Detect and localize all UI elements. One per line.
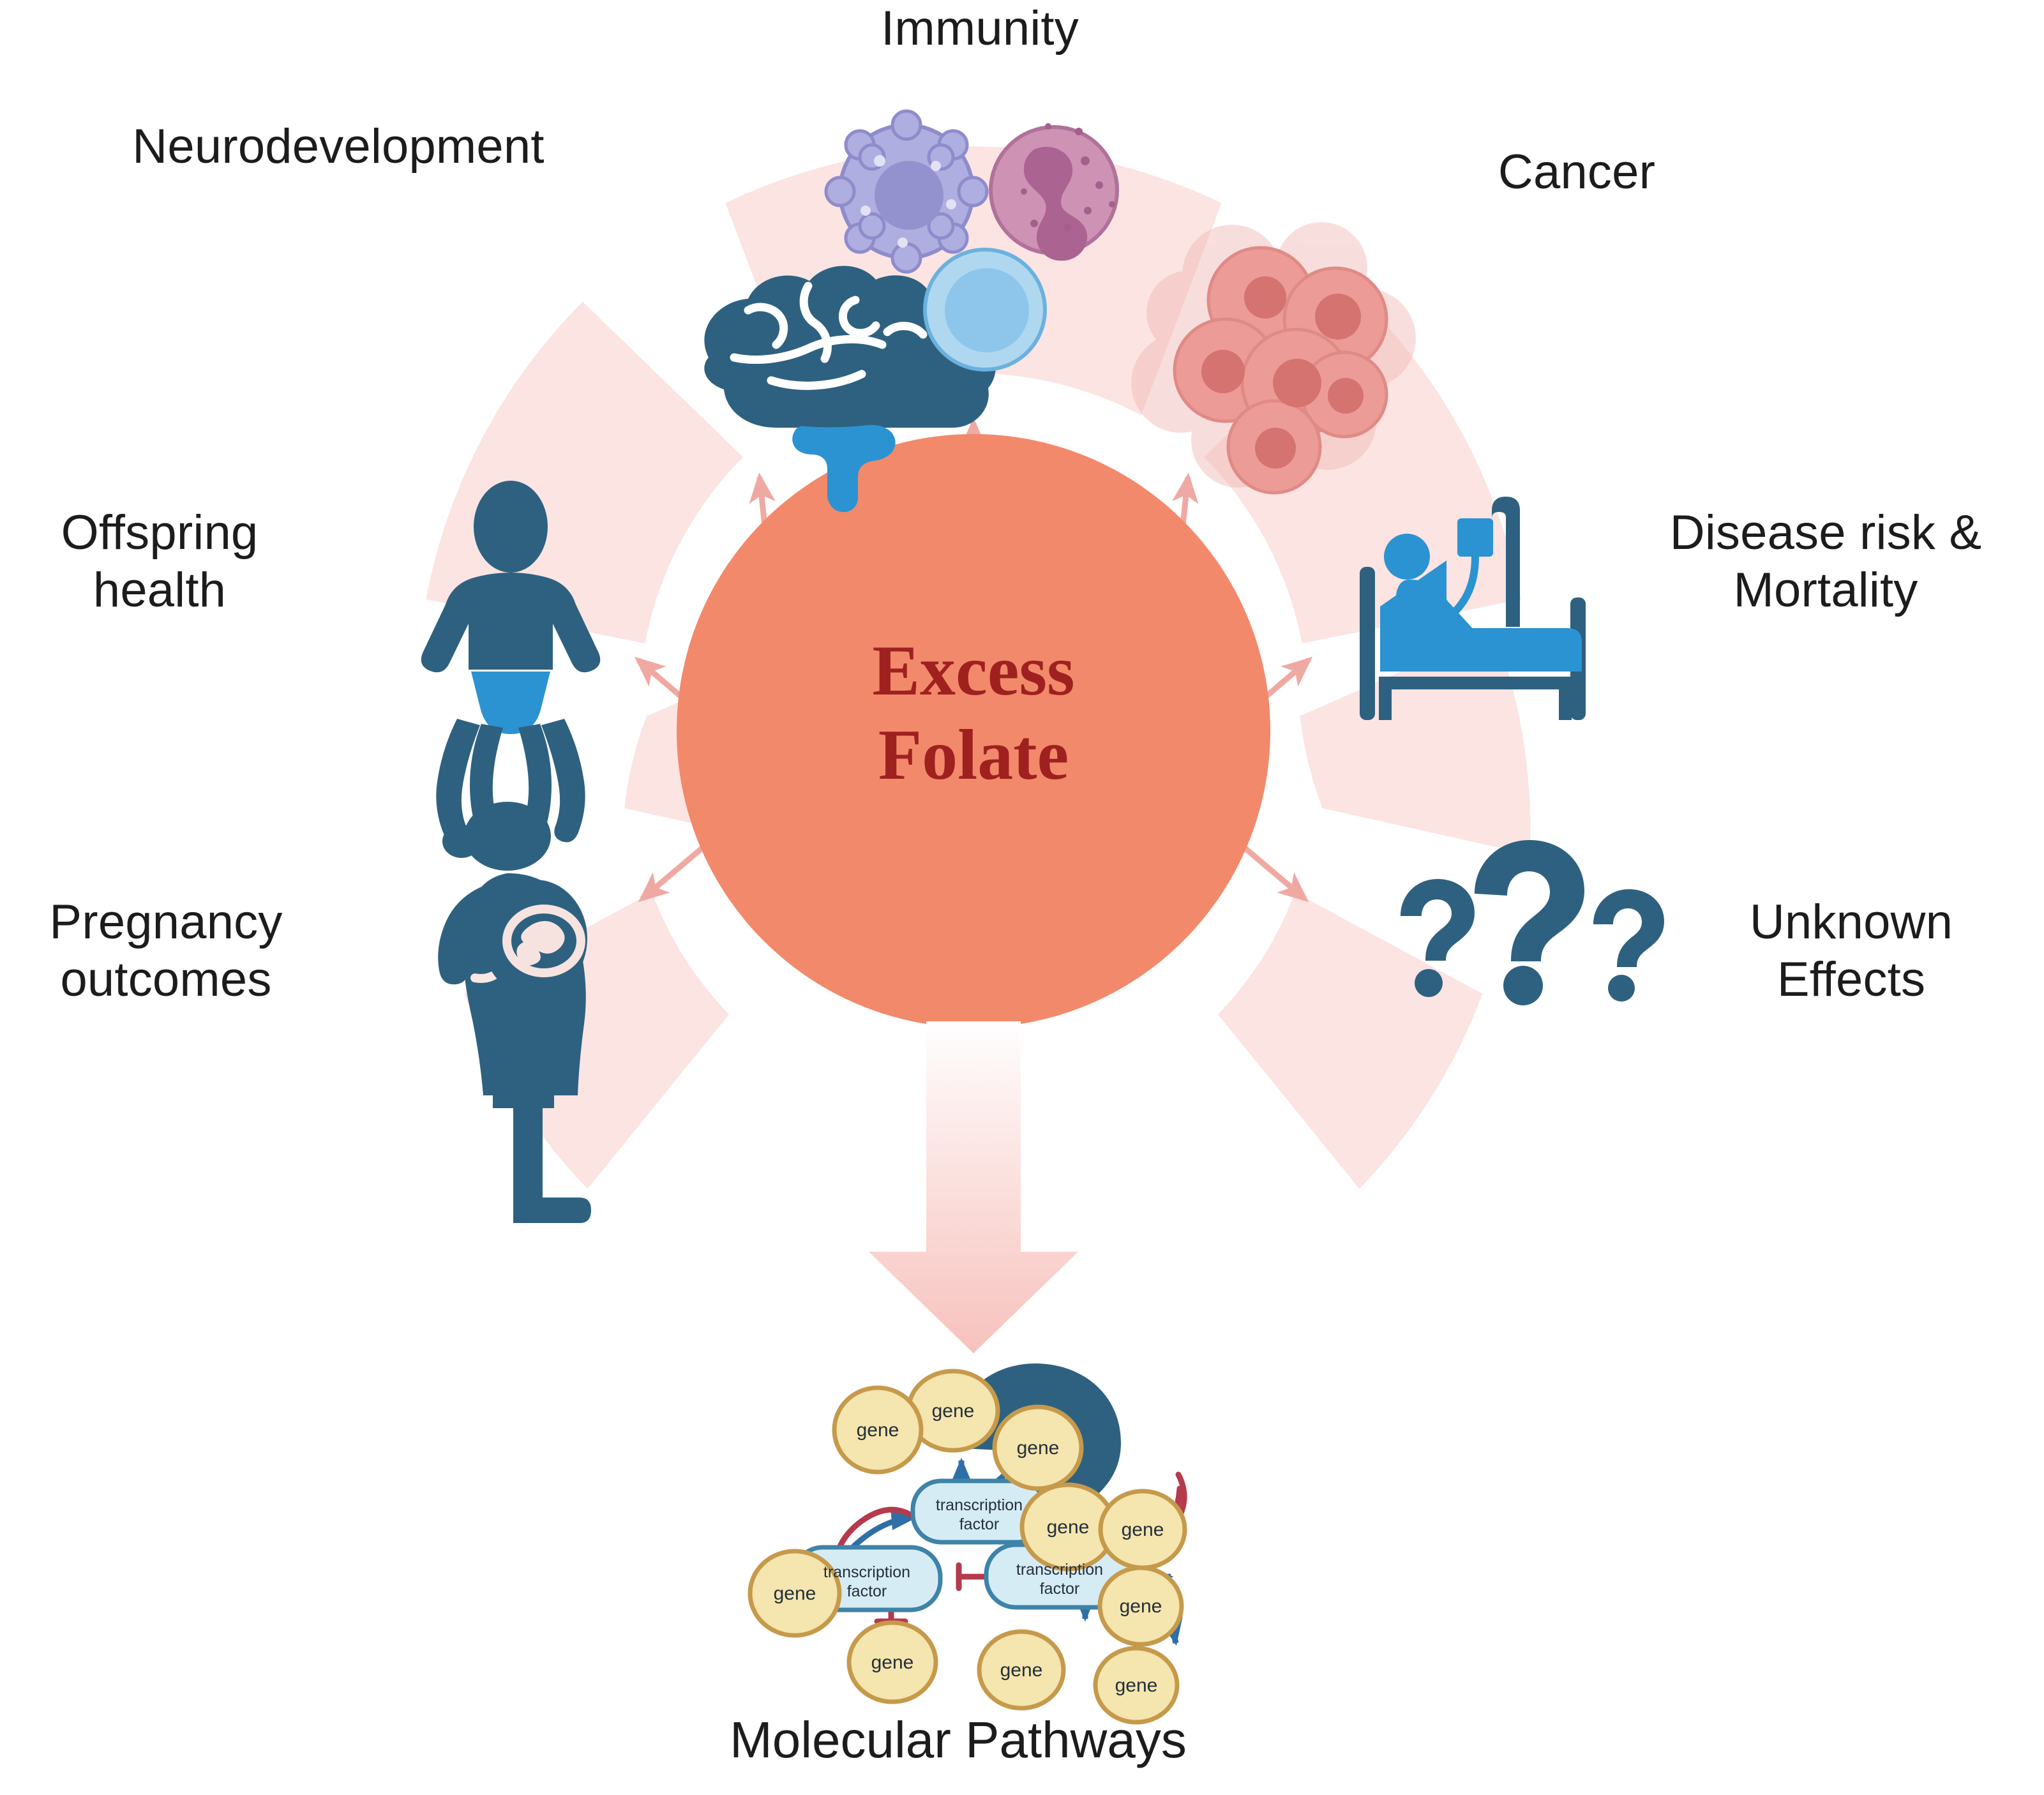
segment-label-offspring-health: Offspring health (6, 504, 313, 619)
node-label: transcription (1016, 1561, 1103, 1579)
node-label: factor (1040, 1580, 1080, 1598)
node-label: gene (1017, 1438, 1060, 1459)
node-label: gene (1000, 1660, 1043, 1681)
node-label: gene (1122, 1519, 1164, 1540)
molecular-pathways-caption: Molecular Pathways (575, 1711, 1341, 1769)
node-label: gene (1120, 1596, 1162, 1617)
node-label: factor (959, 1515, 1000, 1533)
node-label: gene (1047, 1517, 1090, 1538)
down-arrow-icon (869, 1021, 1078, 1353)
node-label: gene (871, 1652, 914, 1673)
segment-label-disease-risk-mortality: Disease risk & Mortality (1609, 504, 2043, 619)
radial-arrow-icon (1238, 843, 1305, 899)
node-label: gene (932, 1401, 975, 1422)
node-label: transcription (823, 1563, 910, 1581)
node-label: gene (774, 1583, 816, 1604)
segment-label-unknown-effects: Unknown Effects (1660, 894, 2043, 1008)
figure-canvas: genegenegenegenegenegenegenegenegenegene… (0, 0, 2044, 1795)
node-label: transcription (936, 1496, 1023, 1514)
node-label: gene (857, 1420, 899, 1441)
segment-label-immunity: Immunity (782, 0, 1178, 57)
question-marks-icon (1401, 840, 1664, 1005)
radial-arrow-icon (642, 843, 709, 899)
node-label: factor (847, 1582, 887, 1600)
center-label: Excess Folate (677, 629, 1270, 797)
node-label: gene (1115, 1675, 1158, 1696)
segment-label-neurodevelopment: Neurodevelopment (64, 118, 613, 176)
segment-label-cancer: Cancer (1385, 144, 1768, 201)
segment-label-pregnancy-outcomes: Pregnancy outcomes (0, 894, 332, 1008)
